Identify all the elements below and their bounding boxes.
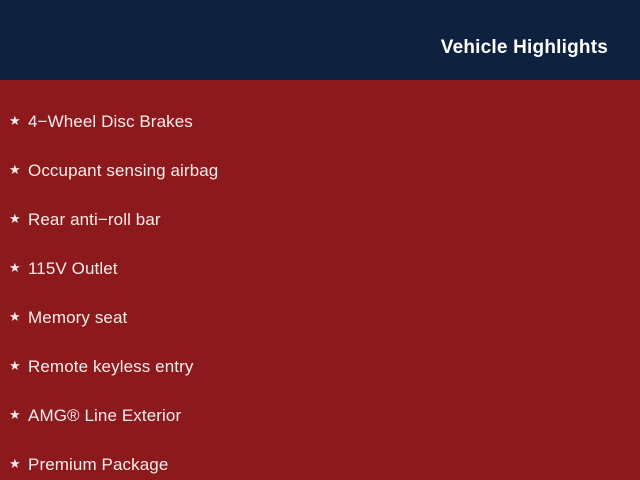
- list-item: ★ Memory seat: [0, 293, 640, 342]
- star-icon: ★: [9, 212, 28, 225]
- star-icon: ★: [9, 310, 28, 323]
- list-item: ★ AMG® Line Exterior: [0, 391, 640, 440]
- list-item-label: 4−Wheel Disc Brakes: [28, 113, 193, 130]
- list-item-label: Premium Package: [28, 456, 168, 473]
- highlights-list: ★ 4−Wheel Disc Brakes ★ Occupant sensing…: [0, 97, 640, 480]
- star-icon: ★: [9, 359, 28, 372]
- list-item-label: 115V Outlet: [28, 260, 118, 277]
- highlights-body: ★ 4−Wheel Disc Brakes ★ Occupant sensing…: [0, 80, 640, 480]
- star-icon: ★: [9, 261, 28, 274]
- star-icon: ★: [9, 457, 28, 470]
- list-item-label: Occupant sensing airbag: [28, 162, 218, 179]
- list-item: ★ 115V Outlet: [0, 244, 640, 293]
- star-icon: ★: [9, 114, 28, 127]
- panel-header: Vehicle Highlights: [0, 0, 640, 80]
- star-icon: ★: [9, 163, 28, 176]
- vehicle-highlights-panel: Vehicle Highlights ★ 4−Wheel Disc Brakes…: [0, 0, 640, 480]
- list-item-label: Rear anti−roll bar: [28, 211, 161, 228]
- list-item-label: AMG® Line Exterior: [28, 407, 181, 424]
- list-item: ★ 4−Wheel Disc Brakes: [0, 97, 640, 146]
- list-item-label: Remote keyless entry: [28, 358, 193, 375]
- list-item: ★ Remote keyless entry: [0, 342, 640, 391]
- list-item: ★ Rear anti−roll bar: [0, 195, 640, 244]
- page-title: Vehicle Highlights: [441, 38, 608, 57]
- list-item: ★ Occupant sensing airbag: [0, 146, 640, 195]
- list-item-label: Memory seat: [28, 309, 127, 326]
- star-icon: ★: [9, 408, 28, 421]
- list-item: ★ Premium Package: [0, 440, 640, 480]
